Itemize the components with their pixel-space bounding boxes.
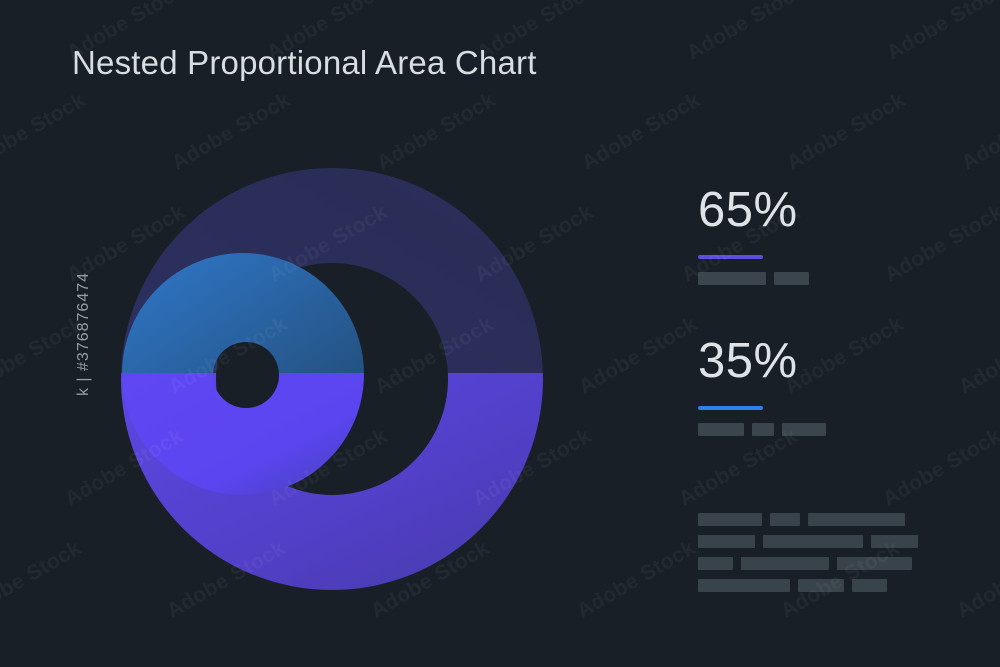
skeleton-bar xyxy=(782,423,826,436)
stat-accent-rule-outer xyxy=(698,255,763,259)
skeleton-bar xyxy=(698,535,755,548)
skeleton-bar xyxy=(698,423,744,436)
skeleton-bar xyxy=(808,513,905,526)
stat-value-outer: 65% xyxy=(698,186,948,235)
skeleton-line xyxy=(698,535,920,548)
skeleton-bar xyxy=(741,557,829,570)
skeleton-bar xyxy=(774,272,809,285)
skeleton-bar xyxy=(871,535,918,548)
stat-value-inner: 35% xyxy=(698,337,948,386)
stat-label-skeleton-outer xyxy=(698,272,948,285)
watermark-text: Adobe Stock xyxy=(883,0,1000,66)
skeleton-line xyxy=(698,557,920,570)
skeleton-bar xyxy=(752,423,774,436)
watermark-text: Adobe Stock xyxy=(958,88,1000,175)
stats-panel: 65% 35% xyxy=(698,186,948,488)
watermark-text: Adobe Stock xyxy=(783,88,910,175)
stat-block-inner[interactable]: 35% xyxy=(698,337,948,436)
skeleton-bar xyxy=(770,513,800,526)
watermark-text: Adobe Stock xyxy=(683,0,810,66)
skeleton-line xyxy=(698,513,920,526)
nested-proportional-area-chart[interactable] xyxy=(0,0,620,667)
chart-svg xyxy=(0,0,620,667)
skeleton-bar xyxy=(698,513,762,526)
watermark-text: Adobe Stock xyxy=(953,536,1000,623)
watermark-text: Adobe Stock xyxy=(955,312,1000,399)
skeleton-bar xyxy=(698,272,766,285)
inner-ring-segment[interactable] xyxy=(0,0,620,667)
description-skeleton xyxy=(698,513,920,601)
stat-label-skeleton-inner xyxy=(698,423,948,436)
skeleton-line xyxy=(698,579,920,592)
skeleton-bar xyxy=(698,579,790,592)
skeleton-bar xyxy=(798,579,844,592)
stat-accent-rule-inner xyxy=(698,406,763,410)
skeleton-bar xyxy=(852,579,887,592)
skeleton-bar xyxy=(698,557,733,570)
skeleton-bar xyxy=(837,557,912,570)
stat-block-outer[interactable]: 65% xyxy=(698,186,948,285)
skeleton-bar xyxy=(763,535,863,548)
screenshot-canvas: Nested Proportional Area Chart xyxy=(0,0,1000,667)
